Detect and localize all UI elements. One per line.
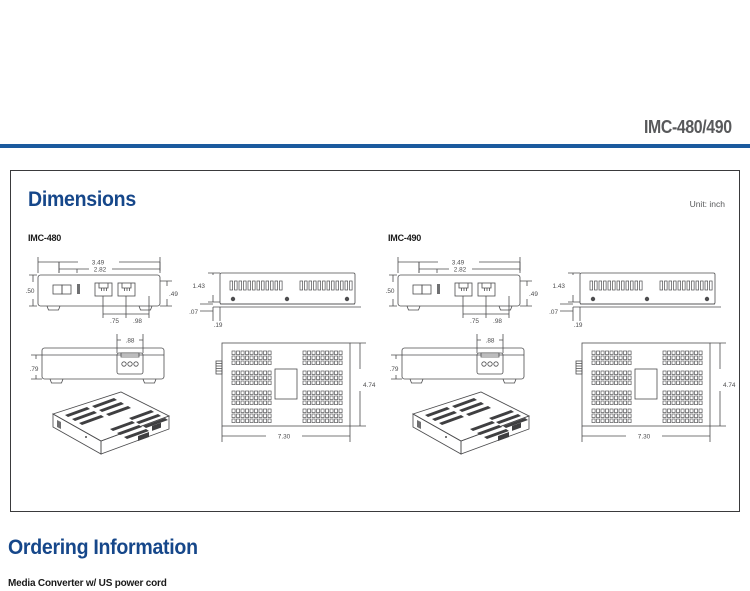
dim-foot-height-490: .07	[549, 309, 558, 316]
dim-socket-width-480: .88	[126, 338, 135, 345]
top-view: 4.74 7.30	[576, 343, 736, 442]
front-view: 3.49 2.82 .50 .49 .75 .98	[386, 257, 539, 325]
dim-port-offset-1-490: .75	[470, 318, 479, 325]
dim-inner-width-480: 2.82	[94, 267, 107, 274]
rear-view: .88 .79	[30, 334, 164, 383]
dim-foot-height-480: .07	[189, 309, 198, 316]
dim-foot-offset-490: .19	[574, 322, 583, 329]
dim-right-height-480: .49	[169, 291, 178, 298]
dim-rear-left-height-480: .79	[30, 366, 39, 373]
dim-foot-offset-480: .19	[214, 322, 223, 329]
drawing-group-imc-490: 3.49 2.82 .50 .49 .75 .98	[377, 251, 737, 501]
dim-inner-width-490: 2.82	[454, 267, 467, 274]
drawing-group-imc-480: 3.49 2.82 .50 .49	[17, 251, 377, 501]
top-view: 4.74 7.30	[216, 343, 376, 442]
section-title-dimensions: Dimensions	[28, 188, 136, 212]
dim-depth-490: 4.74	[723, 382, 736, 389]
front-view: 3.49 2.82 .50 .49	[26, 257, 179, 325]
section-title-ordering-information: Ordering Information	[8, 536, 198, 560]
dim-right-height-490: .49	[529, 291, 538, 298]
header-rule	[0, 144, 750, 148]
dim-length-490: 7.30	[638, 434, 651, 441]
page-header: IMC-480/490	[0, 0, 750, 146]
page-title: IMC-480/490	[644, 117, 732, 138]
dim-socket-width-490: .88	[486, 338, 495, 345]
ordering-subtitle: Media Converter w/ US power cord	[8, 578, 167, 589]
isometric-view	[53, 392, 169, 454]
side-view: 1.43 .07 .19	[549, 273, 721, 329]
dim-overall-width-480: 3.49	[92, 260, 105, 267]
model-label-imc-490: IMC-490	[388, 233, 421, 243]
dim-left-height-490: .50	[386, 288, 395, 295]
model-label-imc-480: IMC-480	[28, 233, 61, 243]
dim-depth-480: 4.74	[363, 382, 376, 389]
dim-port-offset-2-490: .98	[493, 318, 502, 325]
dim-rear-left-height-490: .79	[390, 366, 399, 373]
dim-port-offset-1-480: .75	[110, 318, 119, 325]
dim-overall-width-490: 3.49	[452, 260, 465, 267]
unit-label: Unit: inch	[690, 199, 725, 209]
dim-length-480: 7.30	[278, 434, 291, 441]
dim-body-height-490: 1.43	[553, 283, 566, 290]
isometric-view	[413, 392, 529, 454]
side-view: 1.43 .07 .19	[189, 273, 361, 329]
dimensions-panel: Dimensions Unit: inch IMC-480 IMC-490	[10, 170, 740, 512]
rear-view: .88 .79	[390, 334, 524, 383]
dim-body-height-480: 1.43	[193, 283, 206, 290]
dim-left-height-480: .50	[26, 288, 35, 295]
dim-port-offset-2-480: .98	[133, 318, 142, 325]
